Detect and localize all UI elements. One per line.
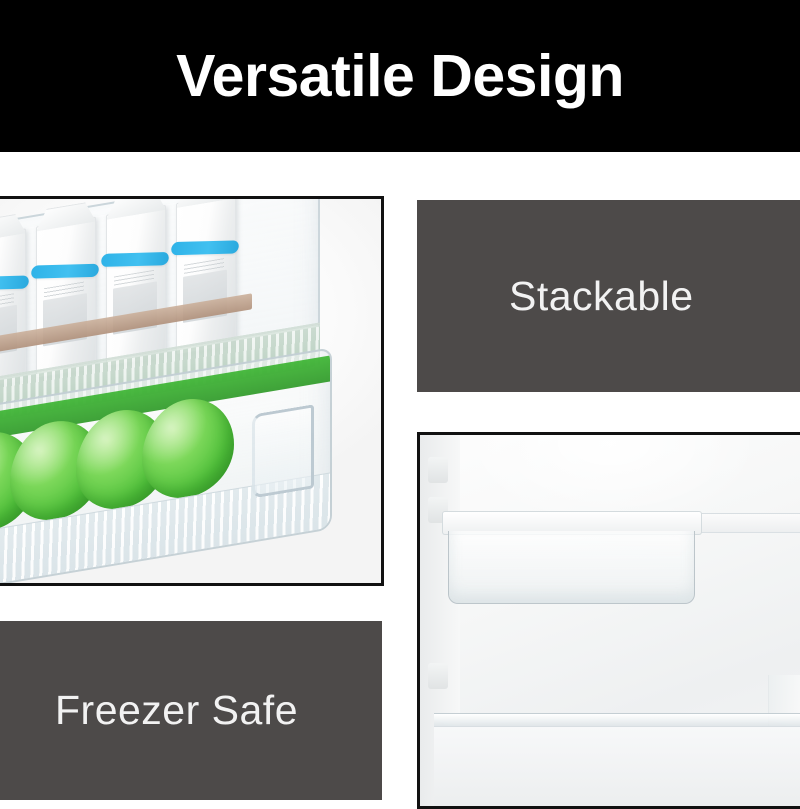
shelf-emboss-text — [570, 765, 575, 777]
feature-panel-freezer-safe: Freezer Safe — [0, 621, 382, 800]
door-bin-end-cap — [698, 513, 800, 533]
bin-handle-cutout — [252, 404, 314, 498]
feature-panel-stackable: Stackable — [417, 200, 800, 392]
feature-label-stackable: Stackable — [509, 273, 694, 320]
beverage-carton — [176, 196, 236, 355]
fridge-interior-backdrop — [420, 435, 800, 806]
header-banner: Versatile Design — [0, 0, 800, 152]
feature-label-freezer-safe: Freezer Safe — [55, 687, 298, 734]
clear-door-bin — [448, 531, 695, 604]
fridge-lower-compartment — [434, 727, 800, 807]
shelf-mount-nub — [428, 457, 448, 483]
product-photo-refrigerator-interior — [417, 432, 800, 809]
beverage-carton — [36, 217, 96, 379]
photo-backdrop — [0, 199, 381, 583]
page-title: Versatile Design — [176, 47, 624, 106]
fridge-shelf — [434, 713, 800, 727]
beverage-carton — [106, 205, 166, 367]
beverage-carton — [0, 228, 26, 390]
product-photo-stacked-bins — [0, 196, 384, 586]
shelf-mount-nub — [428, 663, 448, 689]
